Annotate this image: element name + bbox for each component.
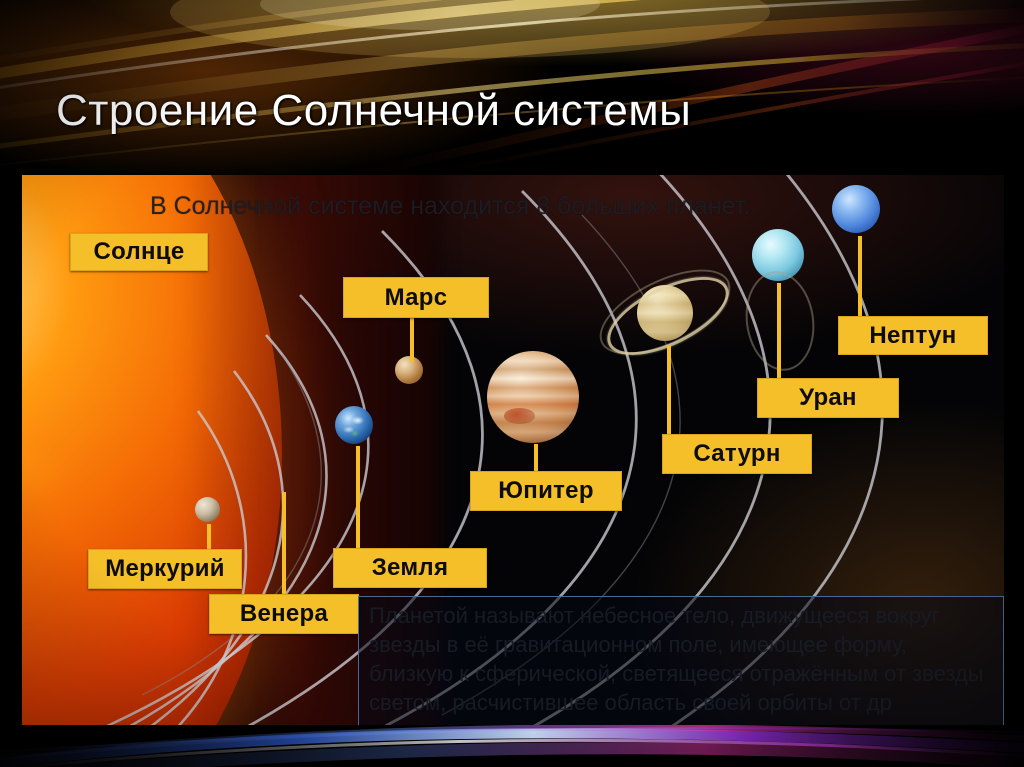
label-sun-text: Солнце bbox=[93, 238, 184, 266]
leader-line-mars bbox=[410, 316, 414, 362]
planet-jupiter bbox=[487, 351, 579, 443]
planet-mercury bbox=[195, 497, 220, 522]
leader-line-neptune bbox=[858, 236, 862, 318]
page-title: Строение Солнечной системы bbox=[56, 86, 956, 136]
leader-line-uranus bbox=[777, 283, 781, 379]
label-mercury-text: Меркурий bbox=[105, 555, 225, 583]
planet-mars bbox=[395, 356, 423, 384]
leader-line-jupiter bbox=[534, 444, 538, 472]
label-mars[interactable]: Марс bbox=[343, 277, 489, 318]
definition-text: Планетой называют небесное тело, движуще… bbox=[369, 601, 993, 717]
label-jupiter-text: Юпитер bbox=[498, 477, 594, 505]
label-venus[interactable]: Венера bbox=[209, 594, 359, 634]
label-earth[interactable]: Земля bbox=[333, 548, 487, 588]
label-mars-text: Марс bbox=[385, 284, 448, 312]
leader-line-saturn bbox=[667, 345, 671, 435]
bottom-swoosh-svg bbox=[0, 725, 1024, 767]
label-uranus-text: Уран bbox=[799, 384, 857, 412]
planet-venus bbox=[263, 458, 296, 491]
leader-line-venus bbox=[282, 492, 286, 594]
label-uranus[interactable]: Уран bbox=[757, 378, 899, 418]
leader-line-earth bbox=[356, 446, 360, 550]
label-neptune[interactable]: Нептун bbox=[838, 316, 988, 355]
label-sun[interactable]: Солнце bbox=[70, 233, 208, 271]
label-saturn[interactable]: Сатурн bbox=[662, 434, 812, 474]
overlay-sentence: В Солнечной системе находится 8 больших … bbox=[150, 192, 950, 221]
label-mercury[interactable]: Меркурий bbox=[88, 549, 242, 589]
label-neptune-text: Нептун bbox=[869, 322, 956, 350]
label-venus-text: Венера bbox=[240, 600, 328, 628]
bottom-decoration-banner bbox=[0, 725, 1024, 767]
label-earth-text: Земля bbox=[372, 554, 449, 582]
planet-earth bbox=[335, 406, 373, 444]
label-jupiter[interactable]: Юпитер bbox=[470, 471, 622, 511]
definition-textbox: Планетой называют небесное тело, движуще… bbox=[358, 596, 1004, 733]
slide: Строение Солнечной системы bbox=[0, 0, 1024, 767]
label-saturn-text: Сатурн bbox=[693, 440, 780, 468]
